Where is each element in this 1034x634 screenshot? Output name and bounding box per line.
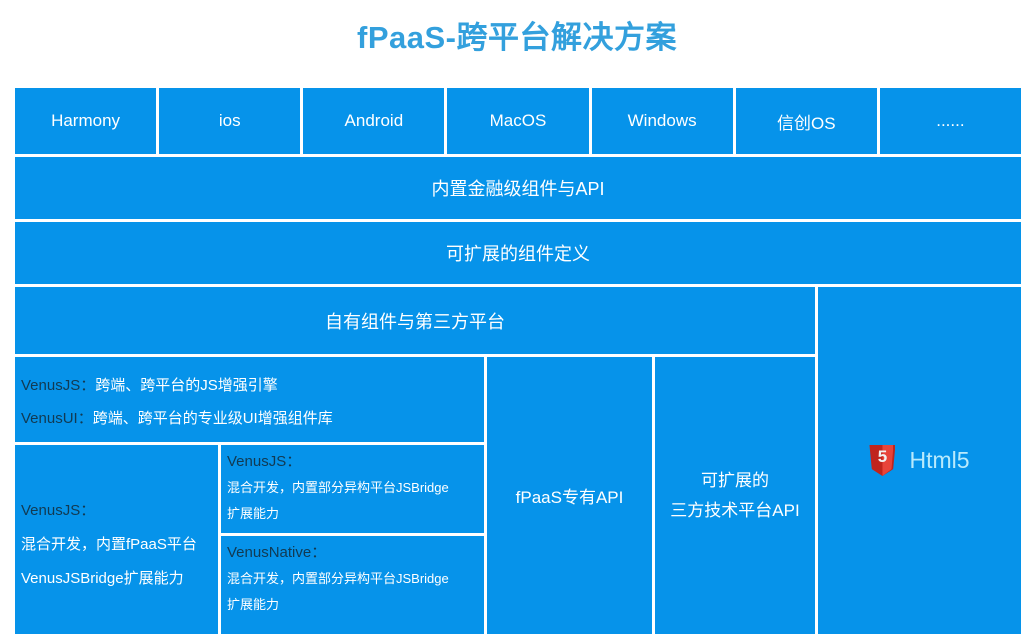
platform-tile-more[interactable]: ...... (880, 88, 1021, 154)
venus-left-key: VenusJS： (21, 494, 212, 528)
bar-builtin-components[interactable]: 内置金融级组件与API (15, 157, 1021, 219)
platform-tile-ios[interactable]: ios (159, 88, 300, 154)
platform-label: Windows (628, 111, 697, 131)
venus-summary-key: VenusJS： (21, 377, 95, 394)
venus-summary-text: 跨端、跨平台的专业级UI增强组件库 (93, 410, 333, 427)
third-party-api-panel[interactable]: 可扩展的 三方技术平台API (655, 357, 815, 634)
venus-js-line1: 混合开发，内置部分异构平台JSBridge (227, 475, 478, 501)
platform-label: Harmony (51, 111, 120, 131)
platform-row: Harmony ios Android MacOS Windows 信创OS .… (15, 88, 1021, 154)
page-title: fPaaS-跨平台解决方案 (0, 16, 1034, 60)
platform-label: ios (219, 111, 241, 131)
venus-native-line1: 混合开发，内置部分异构平台JSBridge (227, 566, 478, 592)
venus-summary-key: VenusUI： (21, 410, 93, 427)
platform-label: 信创OS (777, 109, 836, 134)
venus-summary-text: 跨端、跨平台的JS增强引擎 (95, 377, 278, 394)
html5-panel[interactable]: 5 Html5 (818, 287, 1021, 634)
platform-tile-xinchuang-os[interactable]: 信创OS (736, 88, 877, 154)
venus-js-key: VenusJS： (227, 449, 478, 475)
venus-hybrid-left-panel[interactable]: VenusJS： 混合开发，内置fPaaS平台 VenusJSBridge扩展能… (15, 445, 218, 634)
venus-left-line1: 混合开发，内置fPaaS平台 (21, 528, 212, 562)
third-party-api-line1: 可扩展的 (701, 466, 769, 496)
venus-left-line2: VenusJSBridge扩展能力 (21, 562, 212, 596)
fpaas-proprietary-api-panel[interactable]: fPaaS专有API (487, 357, 652, 634)
venus-native-line2: 扩展能力 (227, 592, 478, 618)
bar-label: 自有组件与第三方平台 (325, 308, 505, 334)
third-party-api-line2: 三方技术平台API (670, 496, 799, 526)
html5-logo-icon: 5 (869, 445, 895, 476)
venus-native-subpanel[interactable]: VenusNative： 混合开发，内置部分异构平台JSBridge 扩展能力 (221, 536, 484, 634)
venus-js-subpanel[interactable]: VenusJS： 混合开发，内置部分异构平台JSBridge 扩展能力 (221, 445, 484, 533)
fpaas-api-label: fPaaS专有API (516, 483, 624, 508)
html5-digit: 5 (869, 445, 895, 476)
bar-own-and-third-party[interactable]: 自有组件与第三方平台 (15, 287, 815, 354)
platform-tile-android[interactable]: Android (303, 88, 444, 154)
platform-tile-macos[interactable]: MacOS (447, 88, 588, 154)
platform-tile-harmony[interactable]: Harmony (15, 88, 156, 154)
venus-js-line2: 扩展能力 (227, 501, 478, 527)
html5-label: Html5 (909, 447, 969, 474)
bar-extensible-definition[interactable]: 可扩展的组件定义 (15, 222, 1021, 284)
venus-summary-row: VenusJS：跨端、跨平台的JS增强引擎 (21, 369, 484, 402)
platform-label: MacOS (490, 111, 547, 131)
venus-native-key: VenusNative： (227, 540, 478, 566)
venus-summary-row: VenusUI：跨端、跨平台的专业级UI增强组件库 (21, 402, 484, 435)
bar-label: 可扩展的组件定义 (446, 240, 590, 266)
platform-label: ...... (936, 111, 964, 131)
venus-summary-panel[interactable]: VenusJS：跨端、跨平台的JS增强引擎 VenusUI：跨端、跨平台的专业级… (15, 357, 484, 442)
architecture-diagram: Harmony ios Android MacOS Windows 信创OS .… (15, 88, 1021, 634)
diagram-page: fPaaS-跨平台解决方案 Harmony ios Android MacOS … (0, 0, 1034, 634)
platform-label: Android (345, 111, 404, 131)
platform-tile-windows[interactable]: Windows (592, 88, 733, 154)
venus-hybrid-mid-column: VenusJS： 混合开发，内置部分异构平台JSBridge 扩展能力 Venu… (221, 445, 484, 634)
bar-label: 内置金融级组件与API (431, 175, 604, 201)
